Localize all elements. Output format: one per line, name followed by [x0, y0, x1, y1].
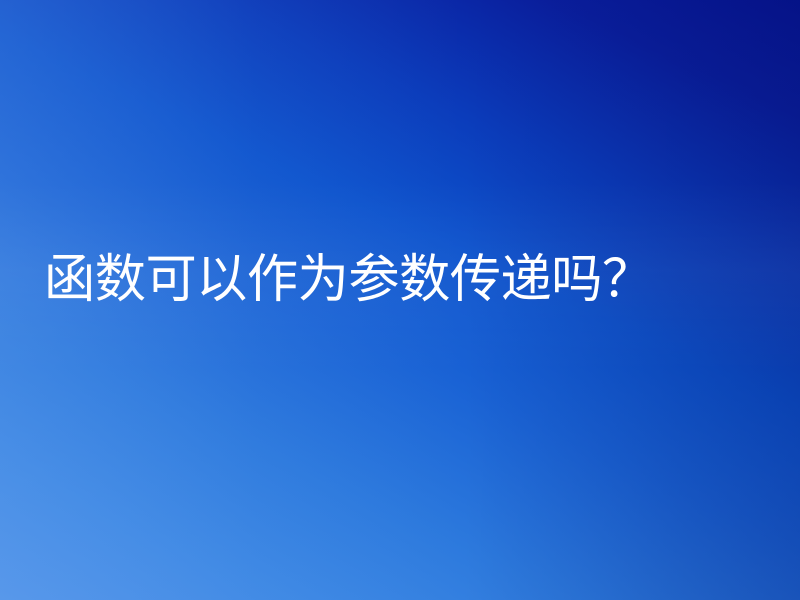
headline-title: 函数可以作为参数传递吗？	[44, 252, 653, 308]
slide-canvas: 函数可以作为参数传递吗？	[0, 0, 800, 600]
headline-block: 函数可以作为参数传递吗？	[44, 248, 764, 312]
